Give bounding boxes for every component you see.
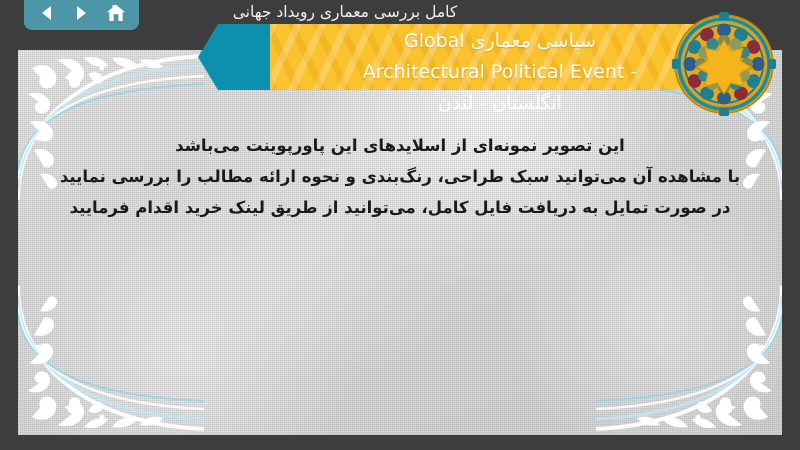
slide-body-line-3: در صورت تمایل به دریافت فایل کامل، می‌تو…: [48, 192, 752, 223]
slide-body-line-1: این تصویر نمونه‌ای از اسلایدهای این پاور…: [48, 130, 752, 161]
islamic-medallion-ornament-icon: [672, 12, 776, 116]
triangle-right-icon: [72, 4, 90, 22]
home-icon: [106, 3, 126, 23]
slide-background-panel: [18, 50, 782, 435]
slide-body-line-2: با مشاهده آن می‌توانید سبک طراحی، رنگ‌بن…: [48, 161, 752, 192]
navigation-toolbar: [24, 0, 139, 30]
prev-button[interactable]: [33, 0, 61, 26]
triangle-left-icon: [38, 4, 56, 22]
slide-viewer-stage: کامل بررسی معماری رویداد جهانی: [0, 0, 800, 450]
banner-line-1: سیاسی معماری Global: [270, 26, 730, 57]
next-button[interactable]: [67, 0, 95, 26]
slide-body-text: این تصویر نمونه‌ای از اسلایدهای این پاور…: [18, 130, 782, 223]
home-button[interactable]: [102, 0, 130, 26]
banner-line-2: Architectural Political Event -: [270, 57, 730, 88]
slide-canvas: این تصویر نمونه‌ای از اسلایدهای این پاور…: [18, 50, 782, 435]
title-banner: سیاسی معماری Global Architectural Politi…: [270, 24, 730, 90]
title-banner-text: سیاسی معماری Global Architectural Politi…: [270, 24, 730, 88]
